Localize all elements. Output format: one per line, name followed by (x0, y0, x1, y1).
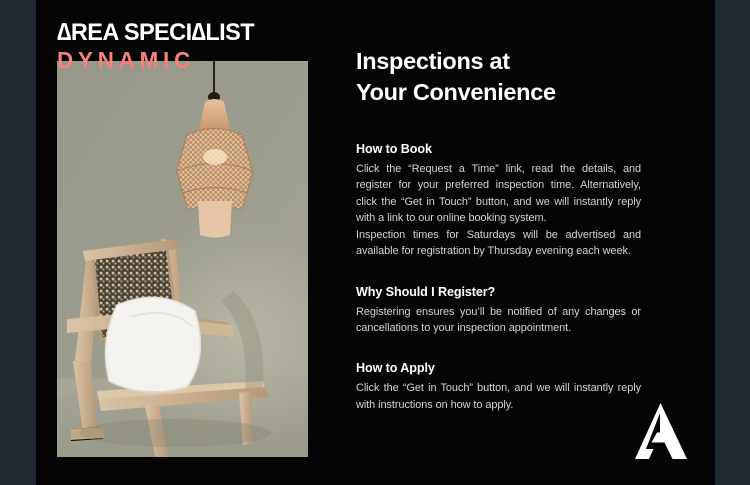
section-title-how-to-apply: How to Apply (356, 361, 641, 375)
interior-photo (57, 61, 308, 457)
page-title-line-2: Your Convenience (356, 79, 556, 105)
section-paragraph: Click the “Get in Touch” button, and we … (356, 380, 641, 413)
triangle-a-icon (633, 401, 689, 461)
page-title-line-1: Inspections at (356, 48, 510, 74)
slide-card: ∆REA SPECI∆LIST DYNAMIC (36, 0, 715, 485)
content-column: Inspections at Your Convenience How to B… (356, 46, 641, 413)
brand-logo-line-2: DYNAMIC (57, 49, 256, 72)
section-how-to-book: How to Book Click the “Request a Time” l… (356, 142, 641, 260)
section-body-how-to-apply: Click the “Get in Touch” button, and we … (356, 380, 641, 413)
brand-logo: ∆REA SPECI∆LIST DYNAMIC (57, 21, 262, 72)
section-why-should-i-register: Why Should I Register? Registering ensur… (356, 285, 641, 337)
section-paragraph: Click the “Request a Time” link, read th… (356, 161, 641, 227)
section-how-to-apply: How to Apply Click the “Get in Touch” bu… (356, 361, 641, 413)
section-title-why-should-i-register: Why Should I Register? (356, 285, 641, 299)
page-title: Inspections at Your Convenience (356, 46, 641, 109)
section-body-why-should-i-register: Registering ensures you’ll be notified o… (356, 304, 641, 337)
section-body-how-to-book: Click the “Request a Time” link, read th… (356, 161, 641, 260)
brand-mark-icon (633, 401, 689, 461)
interior-photo-illustration (57, 61, 308, 457)
brand-logo-line-1: ∆REA SPECI∆LIST (57, 21, 254, 46)
section-paragraph: Registering ensures you’ll be notified o… (356, 304, 641, 337)
slide-stage: ∆REA SPECI∆LIST DYNAMIC (0, 0, 750, 485)
section-paragraph: Inspection times for Saturdays will be a… (356, 227, 641, 260)
section-title-how-to-book: How to Book (356, 142, 641, 156)
